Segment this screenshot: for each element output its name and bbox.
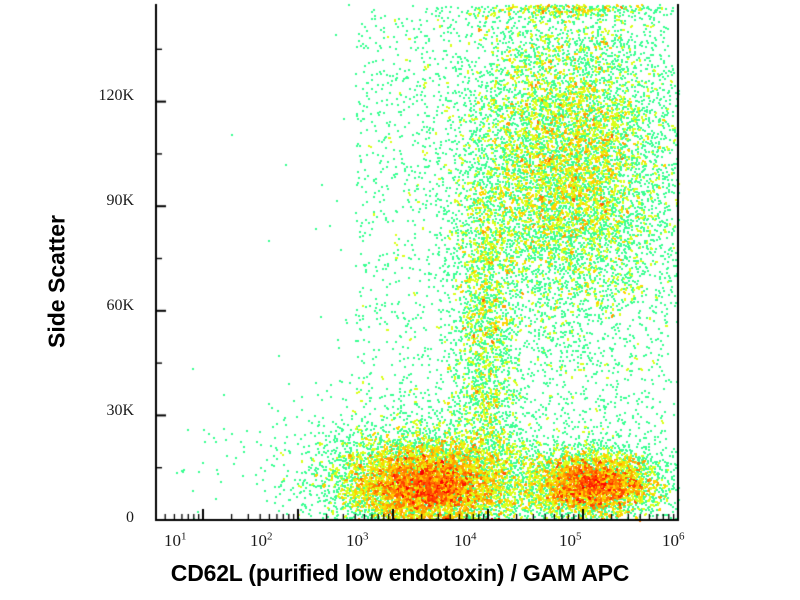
x-axis-title: CD62L (purified low endotoxin) / GAM APC [0,560,800,587]
ytick-label-0: 0 [72,509,134,527]
xtick-exponent: 2 [267,530,273,542]
xtick-mantissa: 10 [662,531,679,550]
y-axis-title: Side Scatter [44,167,71,397]
flow-cytometry-figure: 120K 90K 60K 30K 0 101 102 103 104 105 1… [0,0,800,600]
xtick-label-1e4: 104 [454,531,477,551]
xtick-mantissa: 10 [454,531,471,550]
xtick-label-1e3: 103 [346,531,369,551]
xtick-exponent: 3 [363,530,369,542]
xtick-exponent: 5 [576,530,582,542]
xtick-mantissa: 10 [250,531,267,550]
xtick-label-1e2: 102 [250,531,273,551]
ytick-label-120k: 120K [72,87,134,105]
ytick-label-90k: 90K [72,192,134,210]
xtick-exponent: 4 [471,530,477,542]
ytick-label-30k: 30K [72,402,134,420]
xtick-label-1e5: 105 [559,531,582,551]
xtick-exponent: 6 [679,530,685,542]
ytick-label-60k: 60K [72,297,134,315]
xtick-mantissa: 10 [346,531,363,550]
xtick-mantissa: 10 [559,531,576,550]
xtick-exponent: 1 [181,530,187,542]
xtick-label-1e1: 101 [164,531,187,551]
xtick-mantissa: 10 [164,531,181,550]
xtick-label-1e6: 106 [662,531,685,551]
